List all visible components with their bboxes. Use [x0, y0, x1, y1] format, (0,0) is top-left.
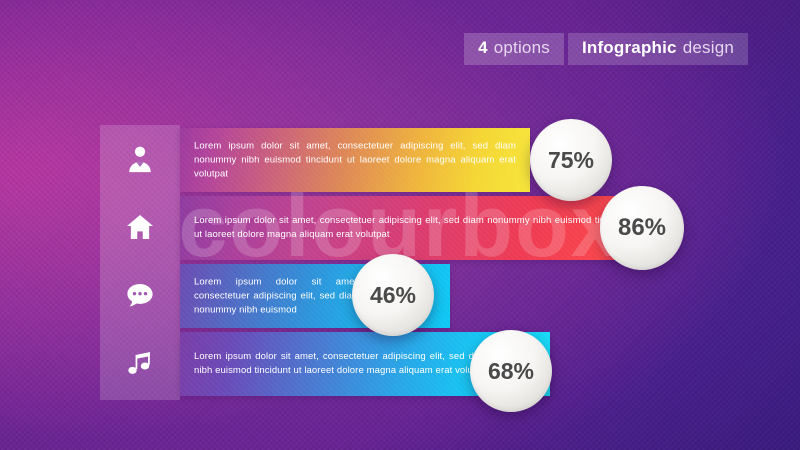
title-chip: Infographic design: [568, 33, 748, 65]
options-label: options: [494, 38, 550, 58]
person-icon: [100, 125, 180, 193]
options-count: 4: [478, 38, 488, 58]
percent-badge-2: 86%: [600, 186, 684, 270]
option-text-2: Lorem ipsum dolor sit amet, consectetuer…: [194, 214, 631, 242]
chat-bubble-icon: [100, 261, 180, 329]
home-icon: [100, 193, 180, 261]
percent-badge-3: 46%: [352, 254, 434, 336]
option-bar-2[interactable]: Lorem ipsum dolor sit amet, consectetuer…: [180, 196, 645, 260]
percent-badge-4: 68%: [470, 330, 552, 412]
option-text-3: Lorem ipsum dolor sit amet, consectetuer…: [194, 275, 360, 316]
page-title-light: design: [683, 38, 734, 58]
page-title-strong: Infographic: [582, 38, 677, 58]
option-bar-1[interactable]: Lorem ipsum dolor sit amet, consectetuer…: [180, 128, 530, 192]
infographic-canvas: 4 options Infographic design: [0, 0, 800, 450]
music-note-icon: [100, 329, 180, 400]
percent-badge-1: 75%: [530, 119, 612, 201]
option-text-1: Lorem ipsum dolor sit amet, consectetuer…: [194, 139, 516, 180]
options-count-chip: 4 options: [464, 33, 564, 65]
icon-column: [100, 125, 180, 400]
header: 4 options Infographic design: [464, 33, 748, 65]
